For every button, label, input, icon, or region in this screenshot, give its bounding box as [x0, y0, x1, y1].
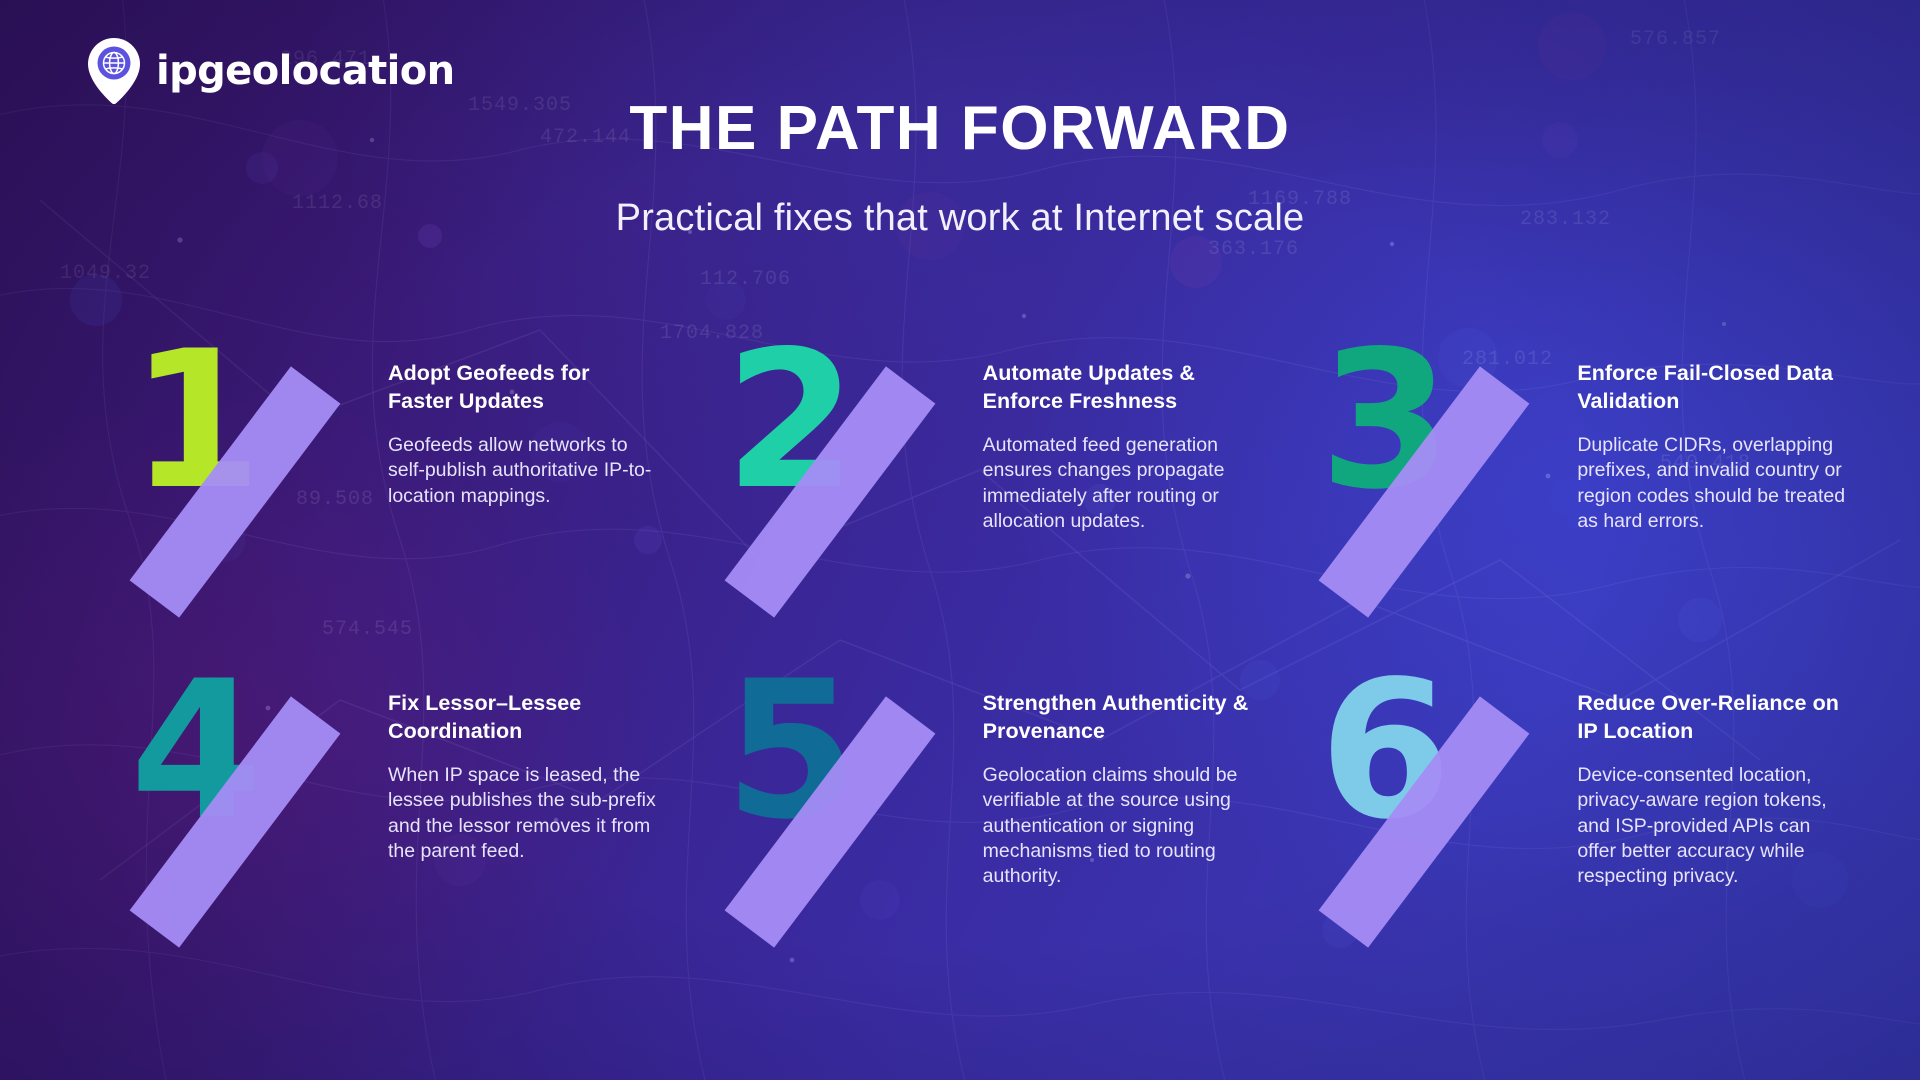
step-badge: 5	[691, 682, 983, 1012]
step-body: Automate Updates & Enforce FreshnessAuto…	[983, 352, 1262, 682]
step-body: Adopt Geofeeds for Faster UpdatesGeofeed…	[388, 352, 667, 682]
step-item-4: 4Fix Lessor–Lessee CoordinationWhen IP s…	[96, 682, 667, 1012]
page-title: THE PATH FORWARD	[0, 96, 1920, 161]
step-title: Adopt Geofeeds for Faster Updates	[388, 360, 657, 416]
step-title: Enforce Fail-Closed Data Validation	[1577, 360, 1846, 416]
step-item-5: 5Strengthen Authenticity & ProvenanceGeo…	[691, 682, 1262, 1012]
step-badge: 2	[691, 352, 983, 682]
step-badge: 4	[96, 682, 388, 1012]
brand-logo[interactable]: ipgeolocation	[88, 38, 454, 104]
page-header: THE PATH FORWARD Practical fixes that wo…	[0, 96, 1920, 240]
step-title: Reduce Over-Reliance on IP Location	[1577, 690, 1846, 746]
step-description: Device-consented location, privacy-aware…	[1577, 763, 1846, 890]
step-badge: 6	[1285, 682, 1577, 1012]
step-title: Automate Updates & Enforce Freshness	[983, 360, 1252, 416]
page-subtitle: Practical fixes that work at Internet sc…	[0, 197, 1920, 240]
step-description: Duplicate CIDRs, overlapping prefixes, a…	[1577, 433, 1846, 534]
step-description: Geofeeds allow networks to self-publish …	[388, 433, 657, 509]
step-badge: 3	[1285, 352, 1577, 682]
step-item-1: 1Adopt Geofeeds for Faster UpdatesGeofee…	[96, 352, 667, 682]
step-item-3: 3Enforce Fail-Closed Data ValidationDupl…	[1285, 352, 1856, 682]
step-title: Strengthen Authenticity & Provenance	[983, 690, 1252, 746]
step-body: Reduce Over-Reliance on IP LocationDevic…	[1577, 682, 1856, 1012]
map-pin-globe-icon	[88, 38, 140, 104]
step-body: Strengthen Authenticity & ProvenanceGeol…	[983, 682, 1262, 1012]
brand-wordmark: ipgeolocation	[156, 48, 454, 94]
step-body: Enforce Fail-Closed Data ValidationDupli…	[1577, 352, 1856, 682]
step-badge: 1	[96, 352, 388, 682]
step-description: Automated feed generation ensures change…	[983, 433, 1252, 534]
step-item-2: 2Automate Updates & Enforce FreshnessAut…	[691, 352, 1262, 682]
step-item-6: 6Reduce Over-Reliance on IP LocationDevi…	[1285, 682, 1856, 1012]
steps-grid: 1Adopt Geofeeds for Faster UpdatesGeofee…	[96, 352, 1856, 1012]
step-body: Fix Lessor–Lessee CoordinationWhen IP sp…	[388, 682, 667, 1012]
step-description: When IP space is leased, the lessee publ…	[388, 763, 657, 864]
step-description: Geolocation claims should be verifiable …	[983, 763, 1252, 890]
step-title: Fix Lessor–Lessee Coordination	[388, 690, 657, 746]
